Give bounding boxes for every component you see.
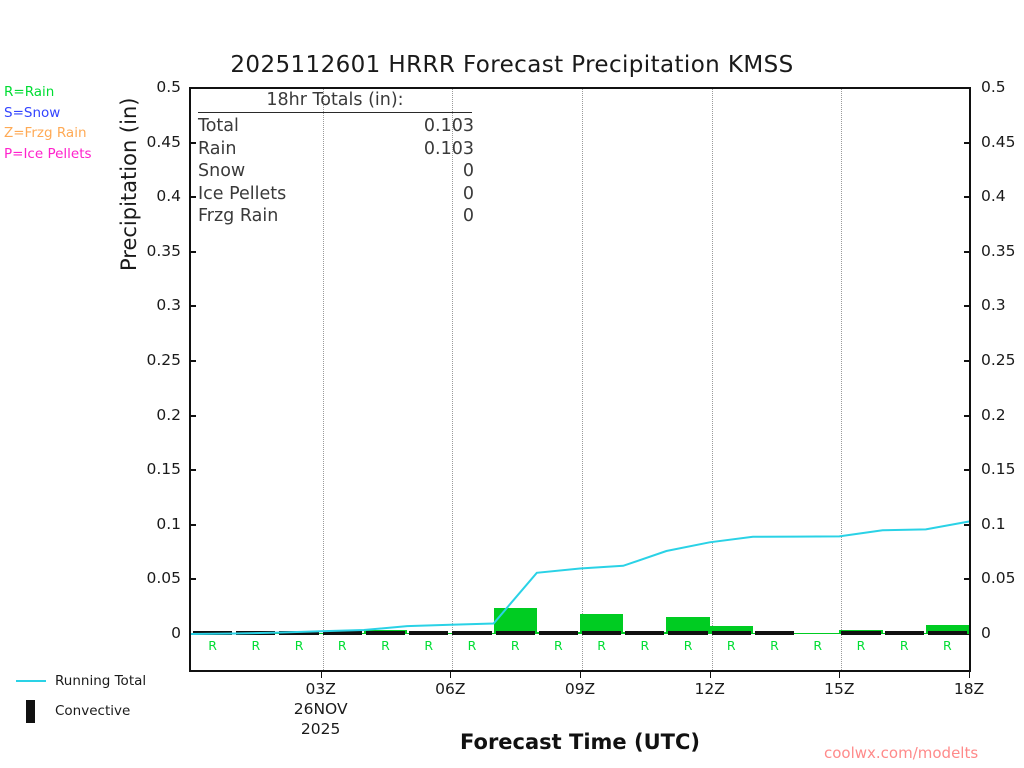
y-tick-mark-right xyxy=(964,524,971,526)
ptype-marker: R xyxy=(419,638,439,653)
convective-bar xyxy=(712,631,751,635)
convective-bar xyxy=(236,631,275,635)
y-tick-mark-left xyxy=(189,305,196,307)
y-tick-mark-left xyxy=(189,87,196,89)
y-tick-label-left: 0.25 xyxy=(121,351,181,369)
y-tick-label-left: 0.5 xyxy=(121,78,181,96)
totals-row-label: Frzg Rain xyxy=(198,205,278,228)
convective-bar xyxy=(755,631,794,635)
y-tick-mark-right xyxy=(964,87,971,89)
page-title: 2025112601 HRRR Forecast Precipitation K… xyxy=(0,52,1024,78)
ptype-marker: R xyxy=(937,638,957,653)
y-tick-mark-right xyxy=(964,251,971,253)
y-tick-label-right: 0.1 xyxy=(981,515,1024,533)
x-tick-label: 03Z xyxy=(276,680,366,698)
ptype-marker: R xyxy=(678,638,698,653)
y-tick-label-right: 0.5 xyxy=(981,78,1024,96)
y-tick-mark-left xyxy=(189,524,196,526)
convective-bar xyxy=(668,631,707,635)
convective-bar xyxy=(409,631,448,635)
y-tick-mark-left xyxy=(189,415,196,417)
y-tick-mark-left xyxy=(189,578,196,580)
y-tick-mark-right xyxy=(964,196,971,198)
convective-bar xyxy=(841,631,880,635)
y-tick-label-left: 0.1 xyxy=(121,515,181,533)
y-tick-label-left: 0.35 xyxy=(121,242,181,260)
legend-label: Running Total xyxy=(55,673,146,689)
y-tick-mark-right xyxy=(964,469,971,471)
gridline-vertical xyxy=(712,89,713,670)
ptype-marker: R xyxy=(592,638,612,653)
x-tick-mark xyxy=(710,672,711,678)
x-tick-mark xyxy=(969,672,970,678)
y-tick-mark-right xyxy=(964,415,971,417)
ptype-marker: R xyxy=(548,638,568,653)
y-tick-label-right: 0 xyxy=(981,624,1024,642)
totals-summary-box: 18hr Totals (in): Total0.103Rain0.103Sno… xyxy=(192,90,478,228)
totals-row: Ice Pellets0 xyxy=(192,183,478,206)
legend-item: Convective xyxy=(10,696,185,726)
totals-row-label: Rain xyxy=(198,138,236,161)
totals-header: 18hr Totals (in): xyxy=(198,90,472,113)
ptype-marker: R xyxy=(376,638,396,653)
y-tick-label-right: 0.15 xyxy=(981,460,1024,478)
ptype-marker: R xyxy=(462,638,482,653)
watermark: coolwx.com/modelts xyxy=(824,744,978,762)
legend-bar-swatch xyxy=(26,700,35,723)
convective-bar xyxy=(366,631,405,635)
y-tick-label-right: 0.05 xyxy=(981,569,1024,587)
totals-row-label: Total xyxy=(198,115,239,138)
convective-bar xyxy=(496,631,535,635)
x-tick-mark xyxy=(321,672,322,678)
precip-bar xyxy=(796,633,839,635)
x-tick-label: 09Z xyxy=(535,680,625,698)
x-tick-label: 06Z xyxy=(405,680,495,698)
x-tick-label: 18Z xyxy=(924,680,1014,698)
y-tick-mark-left xyxy=(189,360,196,362)
y-tick-mark-right xyxy=(964,360,971,362)
series-legend: Running TotalConvective xyxy=(10,666,185,726)
y-tick-label-right: 0.35 xyxy=(981,242,1024,260)
chart-canvas: 2025112601 HRRR Forecast Precipitation K… xyxy=(0,0,1024,768)
ptype-marker: R xyxy=(851,638,871,653)
convective-bar xyxy=(279,631,318,635)
ptype-marker: R xyxy=(765,638,785,653)
convective-bar xyxy=(928,631,967,635)
totals-row: Rain0.103 xyxy=(192,138,478,161)
gridline-vertical xyxy=(841,89,842,670)
y-tick-label-right: 0.2 xyxy=(981,406,1024,424)
y-tick-mark-right xyxy=(964,305,971,307)
totals-row-value: 0 xyxy=(463,183,474,206)
legend-item: Running Total xyxy=(10,666,185,696)
totals-row-label: Ice Pellets xyxy=(198,183,286,206)
totals-row-value: 0 xyxy=(463,160,474,183)
gridline-vertical xyxy=(582,89,583,670)
ptype-marker: R xyxy=(721,638,741,653)
y-tick-label-left: 0.3 xyxy=(121,296,181,314)
convective-bar xyxy=(193,631,232,635)
convective-bar xyxy=(539,631,578,635)
totals-row-value: 0 xyxy=(463,205,474,228)
ptype-marker: R xyxy=(203,638,223,653)
y-tick-mark-right xyxy=(964,578,971,580)
y-tick-label-right: 0.3 xyxy=(981,296,1024,314)
y-tick-mark-left xyxy=(189,251,196,253)
x-tick-mark xyxy=(450,672,451,678)
convective-bar xyxy=(582,631,621,635)
totals-row-value: 0.103 xyxy=(424,138,474,161)
y-tick-label-left: 0.2 xyxy=(121,406,181,424)
y-tick-label-left: 0.45 xyxy=(121,133,181,151)
y-tick-label-right: 0.45 xyxy=(981,133,1024,151)
totals-rows: Total0.103Rain0.103Snow0Ice Pellets0Frzg… xyxy=(192,115,478,228)
convective-bar xyxy=(452,631,491,635)
y-tick-label-left: 0 xyxy=(121,624,181,642)
totals-row-label: Snow xyxy=(198,160,245,183)
y-tick-label-left: 0.15 xyxy=(121,460,181,478)
legend-label: Convective xyxy=(55,703,130,719)
ptype-marker: R xyxy=(246,638,266,653)
totals-row: Frzg Rain0 xyxy=(192,205,478,228)
x-tick-label: 12Z xyxy=(665,680,755,698)
ptype-marker: R xyxy=(635,638,655,653)
x-tick-mark xyxy=(580,672,581,678)
legend-line-swatch xyxy=(16,680,46,682)
y-tick-label-right: 0.4 xyxy=(981,187,1024,205)
x-tick-sublabel: 26NOV xyxy=(276,700,366,718)
convective-bar xyxy=(323,631,362,635)
ptype-marker: R xyxy=(289,638,309,653)
ptype-marker: R xyxy=(894,638,914,653)
x-tick-sublabel: 2025 xyxy=(276,720,366,738)
y-tick-label-left: 0.4 xyxy=(121,187,181,205)
y-tick-label-right: 0.25 xyxy=(981,351,1024,369)
totals-row: Snow0 xyxy=(192,160,478,183)
ptype-marker: R xyxy=(505,638,525,653)
totals-row-value: 0.103 xyxy=(424,115,474,138)
y-tick-label-left: 0.05 xyxy=(121,569,181,587)
convective-bar xyxy=(885,631,924,635)
ptype-marker: R xyxy=(332,638,352,653)
totals-row: Total0.103 xyxy=(192,115,478,138)
convective-bar xyxy=(625,631,664,635)
ptype-marker: R xyxy=(808,638,828,653)
x-tick-mark xyxy=(839,672,840,678)
y-tick-mark-left xyxy=(189,469,196,471)
y-tick-mark-right xyxy=(964,142,971,144)
x-tick-label: 15Z xyxy=(794,680,884,698)
